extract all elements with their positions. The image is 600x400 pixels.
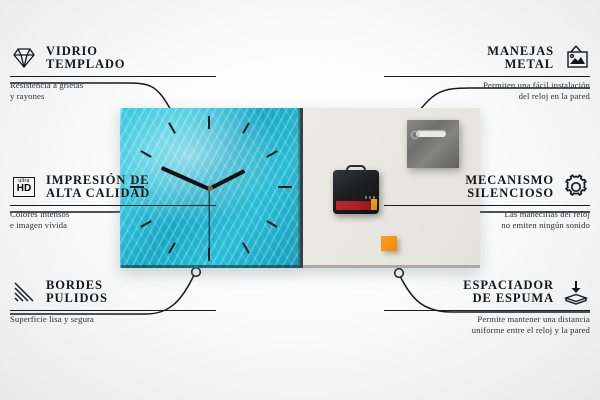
desc-line-2: e imagen vívida (10, 220, 67, 230)
callout-divider (10, 310, 216, 311)
title-line-1: MECANISMO (465, 173, 554, 187)
ultra-hd-icon: ultra HD (10, 173, 38, 201)
callout-title: VIDRIO TEMPLADO (46, 45, 125, 72)
callout-divider (384, 310, 590, 311)
desc-line-2: del reloj en la pared (519, 91, 590, 101)
infographic-stage: VIDRIO TEMPLADO Resistencia a grietas y … (0, 0, 600, 400)
callout-title: ESPACIADOR DE ESPUMA (463, 279, 554, 306)
callout-header: VIDRIO TEMPLADO (10, 44, 216, 72)
clock-mechanism (333, 170, 379, 214)
title-line-2: METAL (505, 57, 554, 71)
hanger-slot (416, 130, 446, 137)
callout-divider (384, 205, 590, 206)
callout-manejas-metal: MANEJAS METAL Permiten una fácil instala… (384, 44, 590, 102)
title-line-1: IMPRESIÓN DE (46, 173, 150, 187)
foam-spacer-icon (562, 278, 590, 306)
callout-mecanismo-silencioso: MECANISMO SILENCIOSO Las manecillas del … (384, 173, 590, 231)
foam-spacer (381, 236, 397, 251)
gear-icon (562, 173, 590, 201)
callout-title: MANEJAS METAL (487, 45, 554, 72)
callout-description: Las manecillas del reloj no emiten ningú… (384, 209, 590, 230)
title-line-2: DE ESPUMA (473, 291, 554, 305)
metal-hanger-plate (407, 120, 459, 168)
title-line-2: ALTA CALIDAD (46, 186, 150, 200)
desc-line-2: y rayones (10, 91, 45, 101)
callout-vidrio-templado: VIDRIO TEMPLADO Resistencia a grietas y … (10, 44, 216, 102)
desc-line-1: Superficie lisa y segura (10, 314, 94, 324)
diamond-icon (10, 44, 38, 72)
callout-description: Colores intensos e imagen vívida (10, 209, 216, 230)
desc-line-1: Colores intensos (10, 209, 69, 219)
desc-line-2: no emiten ningún sonido (501, 220, 590, 230)
clock-hub (208, 186, 213, 191)
battery (336, 201, 372, 210)
title-line-2: TEMPLADO (46, 57, 125, 71)
callout-description: Superficie lisa y segura (10, 314, 216, 325)
desc-line-1: Las manecillas del reloj (505, 209, 590, 219)
callout-title: BORDES PULIDOS (46, 279, 108, 306)
callout-title: MECANISMO SILENCIOSO (465, 174, 554, 201)
callout-header: ultra HD IMPRESIÓN DE ALTA CALIDAD (10, 173, 216, 201)
callout-divider (10, 205, 216, 206)
callout-divider (10, 76, 216, 77)
title-line-2: PULIDOS (46, 291, 108, 305)
polished-edge-icon (10, 278, 38, 306)
title-line-2: SILENCIOSO (467, 186, 554, 200)
title-line-1: BORDES (46, 278, 103, 292)
callout-bordes-pulidos: BORDES PULIDOS Superficie lisa y segura (10, 278, 216, 325)
callout-description: Permite mantener una distancia uniforme … (384, 314, 590, 335)
desc-line-1: Permite mantener una distancia (477, 314, 590, 324)
callout-header: BORDES PULIDOS (10, 278, 216, 306)
desc-line-1: Resistencia a grietas (10, 80, 83, 90)
callout-header: ESPACIADOR DE ESPUMA (384, 278, 590, 306)
title-line-1: VIDRIO (46, 44, 98, 58)
mechanism-loop (346, 165, 366, 174)
callout-divider (384, 76, 590, 77)
endpoint-dot-bordes (192, 268, 201, 277)
title-line-1: MANEJAS (487, 44, 554, 58)
callout-description: Permiten una fácil instalación del reloj… (384, 80, 590, 101)
callout-header: MECANISMO SILENCIOSO (384, 173, 590, 201)
callout-title: IMPRESIÓN DE ALTA CALIDAD (46, 174, 150, 201)
endpoint-dot-espaciador (395, 269, 404, 278)
callout-header: MANEJAS METAL (384, 44, 590, 72)
callout-impresion-alta-calidad: ultra HD IMPRESIÓN DE ALTA CALIDAD Color… (10, 173, 216, 231)
title-line-1: ESPACIADOR (463, 278, 554, 292)
callout-description: Resistencia a grietas y rayones (10, 80, 216, 101)
picture-frame-hanger-icon (562, 44, 590, 72)
callout-espaciador-espuma: ESPACIADOR DE ESPUMA Permite mantener un… (384, 278, 590, 336)
desc-line-2: uniforme entre el reloj y la pared (472, 325, 590, 335)
hd-label: HD (17, 184, 31, 194)
desc-line-1: Permiten una fácil instalación (483, 80, 590, 90)
